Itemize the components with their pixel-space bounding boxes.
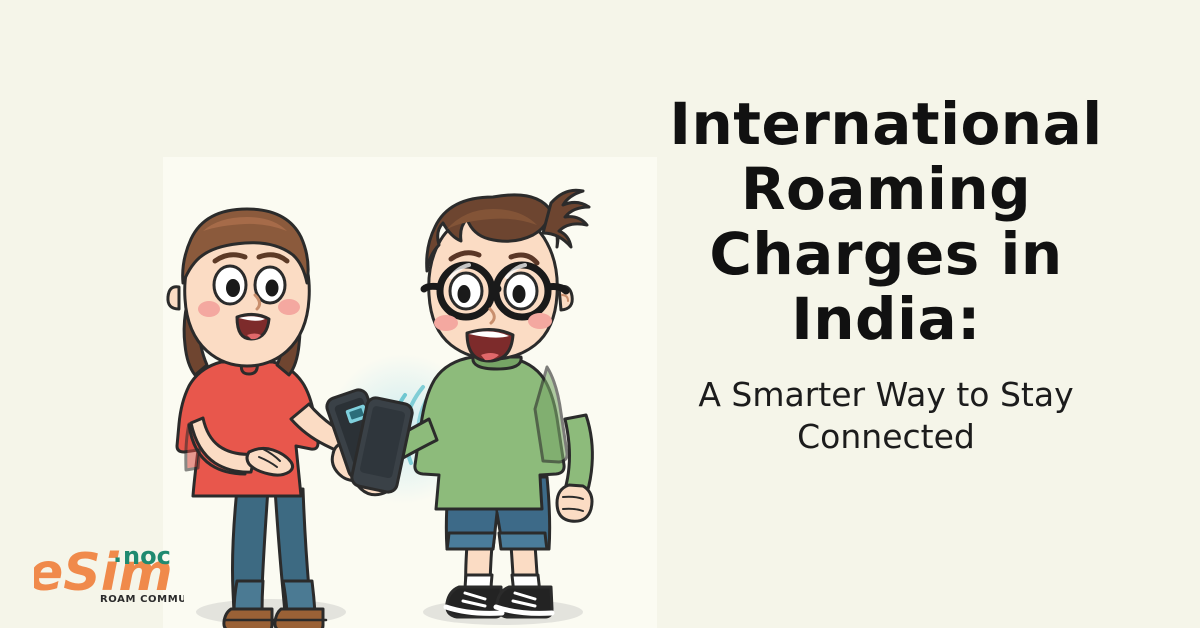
page-title: International Roaming Charges in India: xyxy=(606,92,1166,352)
logo-suffix: noc xyxy=(123,542,171,570)
headline-line-2: Roaming xyxy=(741,155,1031,223)
illustration-panel xyxy=(163,157,657,628)
text-block: International Roaming Charges in India: … xyxy=(606,92,1166,458)
logo-dot: . xyxy=(113,540,122,568)
banner-root: International Roaming Charges in India: … xyxy=(0,0,1200,628)
subtitle-line-1: A Smarter Way to Stay xyxy=(698,375,1073,414)
brand-logo[interactable]: eSim . noc ROAM COMMU xyxy=(34,538,184,608)
headline-line-1: International xyxy=(669,90,1102,158)
headline-line-4: India: xyxy=(791,285,981,353)
page-subtitle: A Smarter Way to Stay Connected xyxy=(606,374,1166,458)
children-esim-illustration xyxy=(163,157,657,628)
esim-noc-logo-icon[interactable]: eSim . noc ROAM COMMU xyxy=(34,538,184,608)
subtitle-line-2: Connected xyxy=(797,417,975,456)
logo-tagline: ROAM COMMU xyxy=(100,594,184,605)
headline-line-3: Charges in xyxy=(709,220,1062,288)
